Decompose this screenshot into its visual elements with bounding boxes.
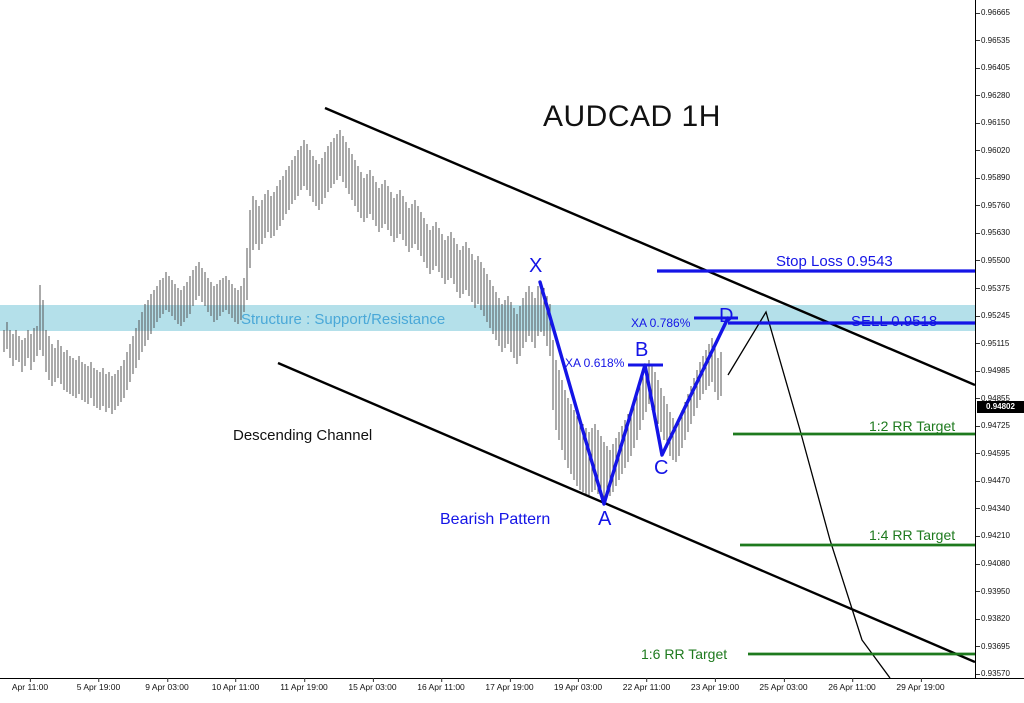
time-tick: 26 Apr 11:00: [828, 682, 876, 692]
price-tick: 0.94855: [976, 393, 1024, 405]
price-tick: 0.95375: [976, 283, 1024, 295]
sell-label: SELL 0.9518: [851, 313, 937, 330]
price-tick: 0.96280: [976, 90, 1024, 102]
time-tick: 16 Apr 11:00: [417, 682, 465, 692]
time-tick: 29 Apr 19:00: [896, 682, 944, 692]
price-tick: 0.95115: [976, 338, 1024, 350]
pattern-point-b: B: [635, 339, 648, 362]
price-tick: 0.94985: [976, 365, 1024, 377]
price-tick: 0.95890: [976, 172, 1024, 184]
stop-loss-label: Stop Loss 0.9543: [776, 253, 893, 270]
price-tick: 0.93695: [976, 641, 1024, 653]
price-tick: 0.94470: [976, 475, 1024, 487]
price-tick: 0.96405: [976, 62, 1024, 74]
xa-618-label: XA 0.618%: [565, 356, 624, 370]
price-tick: 0.94725: [976, 420, 1024, 432]
price-tick: 0.96150: [976, 117, 1024, 129]
trade-level-lines: [0, 0, 975, 678]
rr-1-6-label: 1:6 RR Target: [641, 646, 727, 662]
time-tick: 23 Apr 19:00: [691, 682, 739, 692]
rr-1-4-label: 1:4 RR Target: [869, 527, 955, 543]
price-tick: 0.93820: [976, 613, 1024, 625]
chart-root: AUDCAD 1H Structure : Support/Resistance…: [0, 0, 1024, 702]
time-tick: 10 Apr 11:00: [212, 682, 260, 692]
price-tick: 0.94340: [976, 503, 1024, 515]
pattern-point-d: D: [719, 305, 733, 328]
time-tick: 9 Apr 03:00: [145, 682, 188, 692]
price-tick: 0.96535: [976, 35, 1024, 47]
price-tick: 0.93950: [976, 586, 1024, 598]
bearish-pattern-label: Bearish Pattern: [440, 511, 550, 529]
price-tick: 0.96665: [976, 7, 1024, 19]
structure-zone-label: Structure : Support/Resistance: [241, 311, 445, 328]
time-tick: 15 Apr 03:00: [348, 682, 396, 692]
time-tick: 5 Apr 19:00: [77, 682, 120, 692]
pattern-point-a: A: [598, 508, 611, 531]
pattern-point-x: X: [529, 255, 542, 278]
price-tick: 0.94210: [976, 530, 1024, 542]
time-tick: Apr 11:00: [12, 682, 48, 692]
price-tick: 0.94595: [976, 448, 1024, 460]
time-tick: 22 Apr 11:00: [623, 682, 671, 692]
time-axis[interactable]: Apr 11:005 Apr 19:009 Apr 03:0010 Apr 11…: [0, 678, 1024, 703]
price-tick: 0.96020: [976, 145, 1024, 157]
price-tick: 0.95500: [976, 255, 1024, 267]
price-tick: 0.95630: [976, 227, 1024, 239]
rr-1-2-label: 1:2 RR Target: [869, 418, 955, 434]
chart-plot-area[interactable]: AUDCAD 1H Structure : Support/Resistance…: [0, 0, 975, 678]
time-tick: 17 Apr 19:00: [485, 682, 533, 692]
pattern-point-c: C: [654, 457, 668, 480]
xa-786-label: XA 0.786%: [631, 316, 690, 330]
time-tick: 25 Apr 03:00: [759, 682, 807, 692]
price-tick: 0.94080: [976, 558, 1024, 570]
descending-channel-label: Descending Channel: [233, 427, 372, 444]
time-tick: 11 Apr 19:00: [280, 682, 328, 692]
price-axis[interactable]: 0.94802 0.966650.965350.964050.962800.96…: [975, 0, 1024, 678]
price-tick: 0.95760: [976, 200, 1024, 212]
time-tick: 19 Apr 03:00: [554, 682, 602, 692]
page-title: AUDCAD 1H: [543, 100, 721, 134]
price-tick: 0.95245: [976, 310, 1024, 322]
